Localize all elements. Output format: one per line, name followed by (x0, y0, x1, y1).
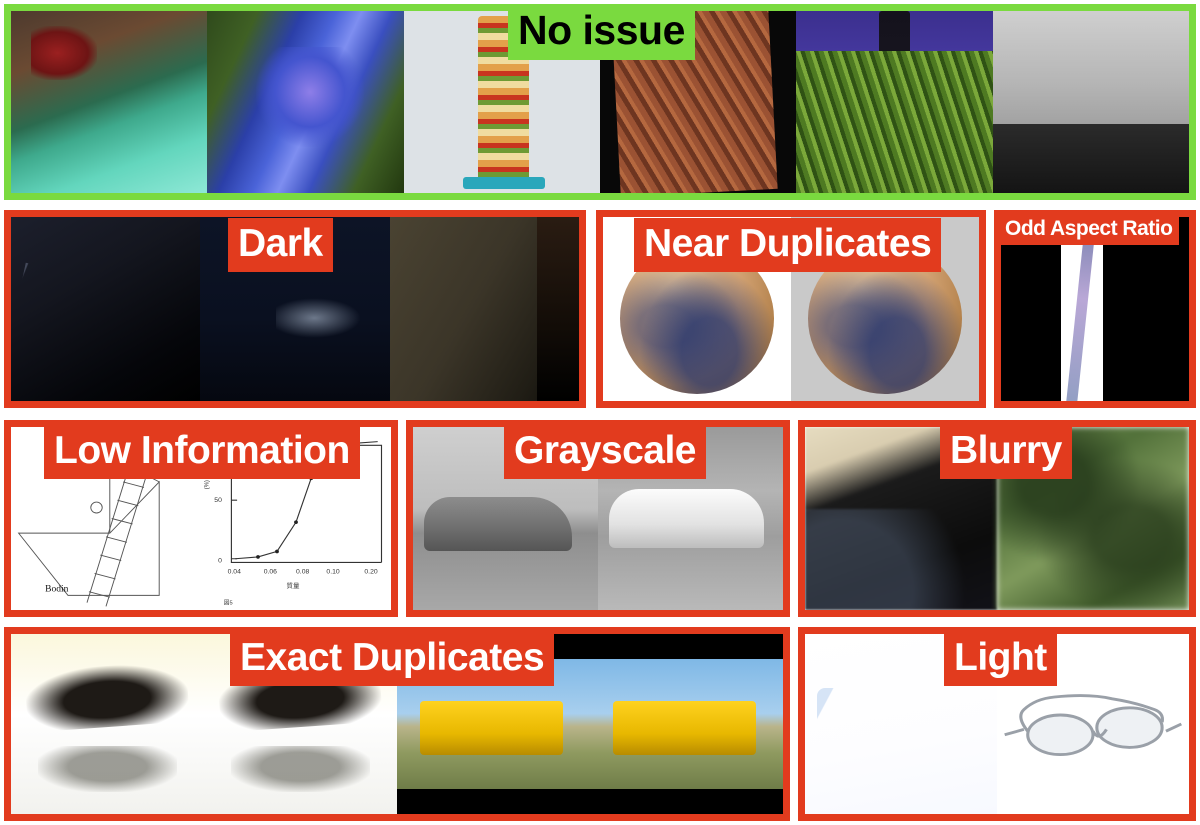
label-exact-duplicates: Exact Duplicates (230, 632, 554, 686)
thumbnail-dark-wall-corridor[interactable] (390, 217, 579, 401)
thumbnail-grayscale-street-with-graffiti-bench[interactable] (993, 11, 1189, 193)
label-low-information: Low Information (44, 425, 360, 479)
label-no-issue: No issue (508, 4, 695, 60)
label-blurry: Blurry (940, 425, 1072, 479)
label-light: Light (944, 632, 1057, 686)
label-near-duplicates: Near Duplicates (634, 218, 941, 272)
thumbnail-blue-iris-flower-closeup[interactable] (207, 11, 403, 193)
label-dark: Dark (228, 218, 333, 272)
thumbnail-cormorant-with-spread-wings[interactable] (11, 634, 204, 814)
issue-taxonomy-figure: No issue Dark Near Duplicates Odd Aspect… (0, 0, 1200, 825)
plot-xtick-020: 0.20 (364, 568, 378, 575)
plot-xtick-006: 0.06 (264, 568, 278, 575)
plot-xtick-010: 0.10 (326, 568, 340, 575)
label-odd-aspect-ratio: Odd Aspect Ratio (998, 214, 1179, 245)
plot-ytick-0: 0 (218, 558, 222, 565)
plot-ytick-50: 50 (214, 497, 222, 504)
thumbnail-green-room-with-teal-hot-tub[interactable] (11, 11, 207, 193)
plot-xtick-008: 0.08 (296, 568, 310, 575)
label-grayscale: Grayscale (504, 425, 706, 479)
thumbnail-palm-trees-and-lamp-post[interactable] (796, 11, 992, 193)
plot-caption: 図5 (224, 600, 233, 607)
plot-ylabel: (%) (205, 480, 211, 489)
thumbnail-yellow-bulldozer-letterboxed-copy[interactable] (590, 634, 783, 814)
plot-xlabel: 質量 (287, 581, 301, 590)
thumbnail-dark-fabric-sleeve[interactable] (11, 217, 200, 401)
drawing-annotation: Bodin (45, 585, 69, 595)
plot-xtick-004: 0.04 (228, 568, 242, 575)
